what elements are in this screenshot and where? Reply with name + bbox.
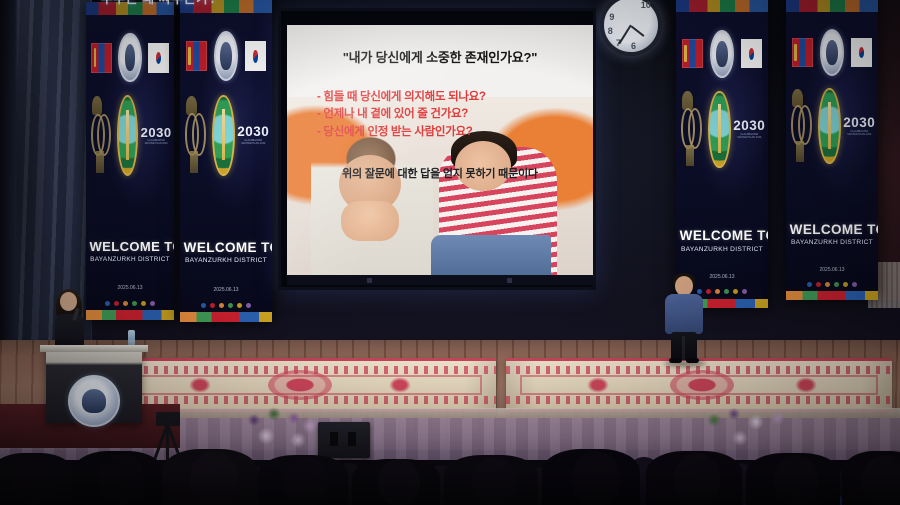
slide-footer-line: 위의 잘문에 대한 답을 얻지 못하기 때문이다: [287, 165, 593, 181]
korea-flag-icon: [851, 38, 873, 66]
host-at-podium: [52, 292, 88, 348]
lectern: [46, 345, 142, 423]
banner-logo-row: 2030 ULAANBAATAR MASTER PLAN 2030: [185, 97, 268, 174]
audience-head: [472, 457, 516, 505]
rollup-banner-1: 2030 ULAANBAATAR MASTER PLAN 2030 WELCOM…: [86, 2, 174, 320]
korea-flag-icon: [245, 41, 267, 71]
rollup-banner-2: 2030 ULAANBAATAR MASTER PLAN 2030 WELCOM…: [180, 0, 272, 322]
banner-dot-row: [786, 282, 878, 287]
district-seal-emblem: [68, 375, 120, 427]
district-emblem-icon: [820, 29, 844, 76]
slide-bullet: - 언제나 내 곁에 있어 줄 건가요?: [317, 106, 575, 123]
banner-flag-row: [91, 37, 168, 78]
projection-slide-title: 부부는 왜 싸우는가?: [0, 0, 318, 7]
year-2030-logo: 2030 ULAANBAATAR MASTER PLAN 2030: [239, 97, 267, 174]
banner-top-colorbar: [676, 0, 768, 12]
presenter-on-stage: [662, 276, 706, 362]
projection-screen: "내가 당신에게 소중한 존재인가요?" - 힘들 때 당신에게 의지해도 되나…: [278, 8, 596, 290]
district-emblem-icon: [118, 33, 141, 83]
mongolia-flag-icon: [792, 38, 814, 66]
audience-head: [572, 451, 620, 505]
banner-logo-row: 2030 ULAANBAATAR MASTER PLAN 2030: [681, 92, 764, 166]
mongolia-flag-icon: [682, 39, 704, 68]
mongolia-flag-icon: [91, 43, 112, 73]
mongolia-flag-icon: [186, 41, 208, 71]
anniversary-60-icon: [681, 94, 704, 164]
banner-top-colorbar: [786, 0, 878, 12]
banner-dot-row: [86, 301, 174, 306]
audience-area: [0, 424, 900, 505]
banner-flag-row: [186, 35, 267, 77]
slide-canvas: "내가 당신에게 소중한 존재인가요?" - 힘들 때 당신에게 의지해도 되나…: [287, 25, 593, 279]
slide-bullet: - 당신에게 인정 받는 사람인가요?: [317, 124, 575, 141]
audience-head: [674, 453, 720, 505]
audience-head: [378, 459, 420, 505]
audience-head: [190, 451, 238, 505]
anniversary-60-icon: [90, 99, 112, 171]
screen-bezel-bottom: [287, 275, 593, 285]
banner-logo-row: 2030 ULAANBAATAR MASTER PLAN 2030: [791, 90, 874, 162]
district-emblem-icon: [214, 31, 238, 81]
banner-flag-row: [682, 34, 763, 74]
slide-heading: "내가 당신에게 소중한 존재인가요?": [287, 47, 593, 66]
slide-bullet: - 힘들 때 당신에게 의지해도 되나요?: [317, 89, 575, 106]
audience-head: [774, 455, 818, 505]
banner-bottom-colorbar: [86, 310, 174, 320]
banner-bottom-colorbar: [786, 291, 878, 300]
korea-flag-icon: [741, 39, 763, 68]
audience-head: [862, 455, 900, 505]
rollup-banner-3: 2030 ULAANBAATAR MASTER PLAN 2030 WELCOM…: [676, 0, 768, 308]
banner-welcome-text: WELCOME TO BAYANZURKH DISTRICT: [680, 229, 765, 253]
soyombo-emblem-icon: [708, 91, 730, 169]
banner-welcome-text: WELCOME TO BAYANZURKH DISTRICT: [184, 241, 269, 265]
audience-head: [12, 455, 56, 505]
soyombo-emblem-icon: [212, 95, 234, 176]
banner-welcome-text: WELCOME TO BAYANZURKH DISTRICT: [90, 240, 171, 263]
photo-person-man: [311, 129, 433, 279]
soyombo-emblem-icon: [117, 95, 138, 175]
rollup-banner-4: 2030 ULAANBAATAR MASTER PLAN 2030 WELCOM…: [786, 0, 878, 300]
banner-flag-row: [792, 33, 873, 72]
slide-bullet-list: - 힘들 때 당신에게 의지해도 되나요? - 언제나 내 곁에 있어 줄 건가…: [317, 89, 575, 141]
audience-head: [98, 453, 144, 505]
anniversary-60-icon: [185, 99, 208, 172]
audience-head: [284, 457, 328, 505]
anniversary-60-icon: [791, 92, 814, 160]
district-emblem-icon: [710, 30, 734, 78]
year-2030-logo: 2030 ULAANBAATAR MASTER PLAN 2030: [845, 90, 873, 162]
banner-date: 2025.06.13: [180, 287, 272, 293]
year-2030-logo: 2030 ULAANBAATAR MASTER PLAN 2030: [735, 92, 763, 166]
banner-welcome-text: WELCOME TO BAYANZURKH DISTRICT: [790, 223, 875, 247]
banner-date: 2025.06.13: [786, 267, 878, 273]
year-2030-logo: 2030 ULAANBAATAR MASTER PLAN 2030: [143, 97, 170, 173]
banner-dot-row: [180, 303, 272, 308]
banner-logo-row: 2030 ULAANBAATAR MASTER PLAN 2030: [90, 97, 169, 173]
banner-bottom-colorbar: [180, 312, 272, 322]
scene-root: 2030 ULAANBAATAR MASTER PLAN 2030 WELCOM…: [0, 0, 900, 505]
korea-flag-icon: [148, 43, 169, 73]
banner-date: 2025.06.13: [86, 285, 174, 291]
soyombo-emblem-icon: [818, 88, 840, 164]
